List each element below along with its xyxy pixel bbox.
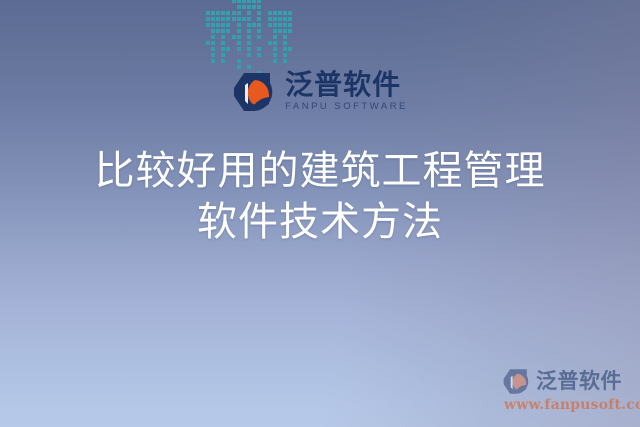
skyline-pixel (237, 17, 241, 21)
skyline-pixel (257, 11, 261, 15)
skyline-pixel (247, 41, 251, 45)
skyline-pixel (216, 11, 220, 15)
brand-name: 泛普软件 (285, 70, 401, 100)
skyline-pixel (226, 41, 230, 45)
skyline-pixel (283, 11, 287, 15)
skyline-pixel (232, 41, 236, 45)
skyline-pixel (237, 0, 241, 3)
skyline-pixel (216, 17, 220, 21)
skyline-pixel (273, 53, 277, 57)
skyline-pixel (226, 29, 230, 33)
skyline-pixel (221, 59, 225, 63)
skyline-pixel (252, 47, 256, 51)
title-line-2: 软件技术方法 (0, 197, 640, 248)
skyline-pixel (211, 65, 215, 69)
skyline-pixel (252, 29, 256, 33)
brand-words: 泛普软件 FANPU SOFTWARE (285, 70, 408, 113)
skyline-pixel (252, 59, 256, 63)
skyline-pixel (232, 5, 236, 9)
skyline-pixel (283, 29, 287, 33)
skyline-pixel (288, 29, 292, 33)
skyline-pixel (206, 53, 210, 57)
skyline-pixel (247, 11, 251, 15)
skyline-pixel (216, 41, 220, 45)
skyline-pixel (232, 23, 236, 27)
skyline-pixel (257, 53, 261, 57)
skyline-pixel (221, 41, 225, 45)
skyline-pixel (273, 17, 277, 21)
skyline-pixel (268, 29, 272, 33)
skyline-pixel (257, 0, 261, 3)
skyline-pixel (226, 47, 230, 51)
skyline-pixel (273, 35, 277, 39)
skyline-pixel (221, 17, 225, 21)
skyline-pixel (232, 29, 236, 33)
skyline-pixel (242, 17, 246, 21)
skyline-pixel (226, 23, 230, 27)
skyline-pixel (283, 35, 287, 39)
skyline-pixel (257, 65, 261, 69)
skyline-pixel (221, 47, 225, 51)
skyline-pixel (216, 35, 220, 39)
skyline-pixel (221, 23, 225, 27)
skyline-pixel (283, 53, 287, 57)
skyline-pixel (242, 65, 246, 69)
skyline-pixel (252, 65, 256, 69)
brand-subtitle: FANPU SOFTWARE (285, 101, 408, 113)
skyline-tower-left (206, 11, 230, 76)
poster-canvas: 泛普软件 FANPU SOFTWARE 比较好用的建筑工程管理 软件技术方法 泛… (0, 0, 640, 427)
skyline-pixel (242, 0, 246, 3)
skyline-pixel (252, 53, 256, 57)
skyline-pixel (283, 47, 287, 51)
skyline-pixel (211, 11, 215, 15)
skyline-pixel (273, 65, 277, 69)
skyline-pixel (232, 11, 236, 15)
skyline-pixel (242, 5, 246, 9)
skyline-pixel (216, 29, 220, 33)
skyline-pixel (226, 35, 230, 39)
skyline-pixel (288, 47, 292, 51)
skyline-pixel (268, 41, 272, 45)
skyline-pixel (278, 35, 282, 39)
skyline-pixel (216, 23, 220, 27)
skyline-pixel (257, 35, 261, 39)
skyline-pixel (242, 23, 246, 27)
skyline-pixel (257, 47, 261, 51)
skyline-pixel (288, 17, 292, 21)
skyline-pixel (216, 53, 220, 57)
skyline-pixel (206, 47, 210, 51)
skyline-pixel (273, 11, 277, 15)
skyline-pixel (247, 23, 251, 27)
skyline-pixel (242, 53, 246, 57)
skyline-pixel (247, 29, 251, 33)
skyline-pixel (211, 47, 215, 51)
skyline-pixel (273, 47, 277, 51)
skyline-pixel (221, 11, 225, 15)
skyline-pixel (288, 23, 292, 27)
skyline-pixel (221, 65, 225, 69)
skyline-pixel (283, 59, 287, 63)
skyline-pixel (206, 29, 210, 33)
skyline-pixel (206, 17, 210, 21)
skyline-pixel (278, 41, 282, 45)
skyline-pixel (242, 47, 246, 51)
skyline-pixel (247, 5, 251, 9)
skyline-pixel (247, 35, 251, 39)
skyline-pixel (232, 59, 236, 63)
skyline-pixel (232, 0, 236, 3)
skyline-pixel (242, 35, 246, 39)
skyline-pixel (288, 59, 292, 63)
skyline-pixel (268, 23, 272, 27)
skyline-pixel (257, 59, 261, 63)
skyline-pixel (252, 41, 256, 45)
skyline-pixel (206, 11, 210, 15)
skyline-pixel (226, 59, 230, 63)
watermark-url: www.fanpusoft.com (504, 397, 638, 414)
skyline-pixel (257, 5, 261, 9)
brand-lockup: 泛普软件 FANPU SOFTWARE (0, 70, 640, 113)
skyline-pixel (252, 5, 256, 9)
fanpu-logo-icon-watermark (502, 368, 531, 395)
skyline-pixel (232, 17, 236, 21)
skyline-pixel (247, 0, 251, 3)
skyline-pixel (268, 65, 272, 69)
skyline-pixel (206, 35, 210, 39)
skyline-pixel (221, 53, 225, 57)
skyline-pixel (257, 29, 261, 33)
skyline-pixel (216, 59, 220, 63)
skyline-pixel (268, 11, 272, 15)
skyline-pixel (278, 11, 282, 15)
skyline-tower-right (268, 11, 292, 76)
skyline-pixel (247, 53, 251, 57)
page-title: 比较好用的建筑工程管理 软件技术方法 (0, 146, 640, 248)
skyline-pixel (268, 59, 272, 63)
skyline-pixel (232, 47, 236, 51)
skyline-pixel (273, 41, 277, 45)
skyline-pixel (226, 53, 230, 57)
skyline-pixel (226, 17, 230, 21)
skyline-pixel (268, 53, 272, 57)
skyline-pixel (278, 59, 282, 63)
skyline-tower-center (232, 0, 262, 76)
footer-watermark: 泛普软件 www.fanpusoft.com (502, 368, 638, 414)
skyline-pixel (257, 17, 261, 21)
watermark-brand-name: 泛普软件 (536, 370, 622, 393)
skyline-pixel (252, 17, 256, 21)
skyline-pixel (216, 65, 220, 69)
skyline-pixel (211, 17, 215, 21)
skyline-pixel (273, 59, 277, 63)
skyline-pixel (237, 35, 241, 39)
skyline-pixel (206, 23, 210, 27)
skyline-pixel (288, 11, 292, 15)
skyline-pixel (237, 53, 241, 57)
skyline-pixel (237, 29, 241, 33)
skyline-pixel (247, 47, 251, 51)
skyline-pixel (206, 65, 210, 69)
skyline-pixel (257, 23, 261, 27)
skyline-pixel (216, 47, 220, 51)
skyline-pixel (211, 29, 215, 33)
skyline-pixel (283, 23, 287, 27)
skyline-pixel (273, 23, 277, 27)
skyline-pixel (283, 17, 287, 21)
skyline-pixel (247, 17, 251, 21)
skyline-pixel (268, 47, 272, 51)
skyline-pixel (232, 35, 236, 39)
skyline-pixel (237, 41, 241, 45)
skyline-pixel (257, 41, 261, 45)
skyline-pixel (252, 0, 256, 3)
skyline-pixel (252, 35, 256, 39)
skyline-pixel (206, 59, 210, 63)
skyline-pixel (252, 23, 256, 27)
skyline-pixel (278, 47, 282, 51)
skyline-pixel (268, 35, 272, 39)
skyline-pixel (252, 11, 256, 15)
skyline-pixel (211, 41, 215, 45)
skyline-pixel (278, 65, 282, 69)
skyline-pixel (278, 29, 282, 33)
skyline-pixel (288, 41, 292, 45)
skyline-pixel (268, 17, 272, 21)
skyline-pixel (221, 29, 225, 33)
skyline-pixel (237, 23, 241, 27)
skyline-pixel (211, 23, 215, 27)
skyline-pixel (237, 47, 241, 51)
skyline-pixel (206, 41, 210, 45)
fanpu-logo-icon (232, 71, 276, 113)
skyline-pixel (242, 29, 246, 33)
skyline-pixel (247, 59, 251, 63)
skyline-pixel (232, 53, 236, 57)
skyline-pixel (273, 29, 277, 33)
skyline-pixel (288, 53, 292, 57)
skyline-pixel (237, 11, 241, 15)
skyline-pixel (211, 59, 215, 63)
skyline-pixel (242, 41, 246, 45)
skyline-pixel (242, 59, 246, 63)
skyline-pixel (288, 35, 292, 39)
title-line-1: 比较好用的建筑工程管理 (0, 146, 640, 197)
skyline-pixel (232, 65, 236, 69)
skyline-pixel (211, 35, 215, 39)
skyline-pixel (242, 11, 246, 15)
skyline-pixel (237, 5, 241, 9)
skyline-pixel (278, 17, 282, 21)
skyline-pixel (278, 23, 282, 27)
watermark-logo-row: 泛普软件 (502, 368, 638, 395)
skyline-pixel (247, 65, 251, 69)
skyline-pixel (237, 59, 241, 63)
skyline-pixel (278, 53, 282, 57)
skyline-pixel (226, 11, 230, 15)
skyline-pixel (237, 65, 241, 69)
skyline-pixel (211, 53, 215, 57)
skyline-pixel (283, 41, 287, 45)
skyline-pixel (221, 35, 225, 39)
pixel-skyline-decoration (196, 0, 320, 76)
skyline-pixel (226, 65, 230, 69)
